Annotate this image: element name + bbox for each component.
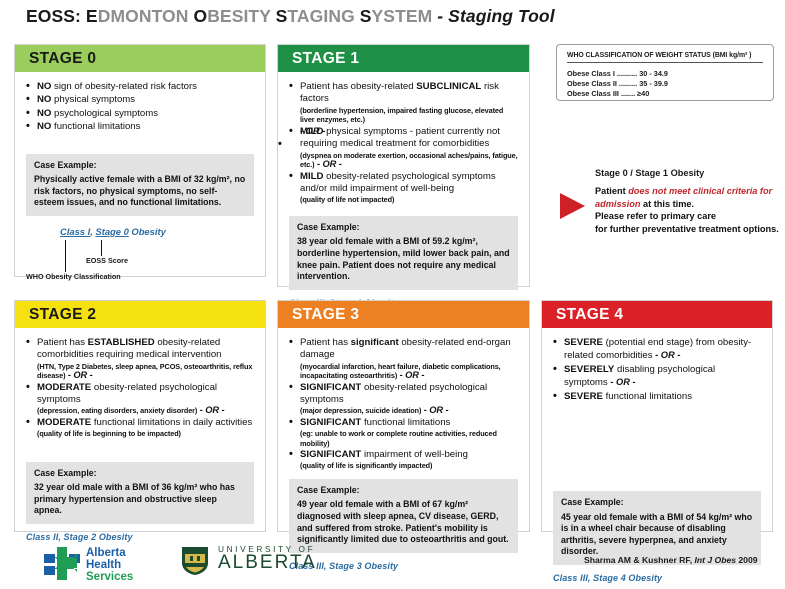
recommendation-line1-post: at this time.: [640, 199, 694, 209]
stage-2-case-text: 32 year old male with a BMI of 36 kg/m² …: [34, 482, 246, 517]
stage-0-stage-part: Stage 0: [95, 226, 128, 237]
stage-4-case-label: Case Example:: [561, 497, 753, 509]
stage-1-criterion-detail: (dyspnea on moderate exertion, occasiona…: [300, 151, 518, 170]
stage-1-case-example: Case Example: 38 year old female with a …: [289, 216, 518, 290]
stage-2-body: Patient has ESTABLISHED obesity-related …: [15, 328, 265, 548]
stage-3-criterion: SIGNIFICANT obesity-related psychologica…: [289, 382, 518, 416]
stage-0-class-part: Class I: [60, 226, 90, 237]
recommendation-line1-pre: Patient: [595, 186, 628, 196]
stage-3-criterion-detail: (myocardial infarction, heart failure, d…: [300, 362, 518, 381]
stage-0-criterion: NO psychological symptoms: [26, 108, 254, 120]
stage-2-criterion: Patient has ESTABLISHED obesity-related …: [26, 337, 254, 381]
stage-1-case-text: 38 year old female with a BMI of 59.2 kg…: [297, 236, 510, 282]
stage-4-criteria-list: SEVERE (potential end stage) from obesit…: [553, 337, 761, 403]
citation-pre: Sharma AM & Kushner RF,: [584, 555, 694, 565]
stage-1-criterion: MILD physical symptoms - patient current…: [289, 126, 518, 170]
stage-3-header: STAGE 3: [278, 301, 529, 328]
stage-3-criterion-detail: (major depression, suicide ideation) - O…: [300, 406, 518, 415]
ahs-line-1: Alberta Health: [86, 547, 133, 571]
stage-1-body: Patient has obesity-related SUBCLINICAL …: [278, 72, 529, 314]
stage-0-criteria-list: NO sign of obesity-related risk factors …: [26, 81, 254, 134]
ahs-cross-icon: [44, 547, 80, 580]
stage-0-annotation: Class I, Stage 0 Obesity WHO Obesity Cla…: [26, 226, 254, 282]
stage-2-card: STAGE 2 Patient has ESTABLISHED obesity-…: [14, 300, 266, 532]
stage-2-criterion-detail: (HTN, Type 2 Diabetes, sleep apnea, PCOS…: [37, 362, 254, 381]
stage-2-criteria-list: Patient has ESTABLISHED obesity-related …: [26, 337, 254, 439]
stage-0-case-label: Case Example:: [34, 160, 246, 172]
eoss-staging-tool-page: EOSS: EDMONTON OBESITY STAGING SYSTEM - …: [0, 0, 785, 588]
stage-1-case-label: Case Example:: [297, 222, 510, 234]
recommendation-line2: Please refer to primary care: [595, 211, 716, 221]
eoss-score-label: EOSS Score: [86, 256, 128, 265]
stage-2-criterion: MODERATE obesity-related psychological s…: [26, 382, 254, 416]
who-row: Obese Class II ......... 35 - 39.9: [567, 79, 763, 89]
stage-0-criterion: NO physical symptoms: [26, 94, 254, 106]
stage-0-class-line: Class I, Stage 0 Obesity: [60, 226, 166, 237]
stage-3-case-text: 49 year old female with a BMI of 67 kg/m…: [297, 499, 510, 545]
stage-0-class-suffix: Obesity: [129, 226, 166, 237]
page-title-suffix: - Staging Tool: [437, 6, 554, 26]
stage-1-header: STAGE 1: [278, 45, 529, 72]
stage-1-card: STAGE 1 Patient has obesity-related SUBC…: [277, 44, 530, 287]
university-of-alberta-logo: UNIVERSITY OF ALBERTA: [178, 543, 212, 582]
stage-0-card: STAGE 0 NO sign of obesity-related risk …: [14, 44, 266, 277]
stage-3-criteria-list: Patient has significant obesity-related …: [289, 337, 518, 471]
who-row: Obese Class I .......... 30 - 34.9: [567, 69, 763, 79]
stage-3-criterion: Patient has significant obesity-related …: [289, 337, 518, 381]
stage-4-header: STAGE 4: [542, 301, 772, 328]
stage-0-criterion: NO functional limitations: [26, 121, 254, 133]
stage-1-criterion: MILD obesity-related psychological sympt…: [289, 171, 518, 205]
stage-2-header: STAGE 2: [15, 301, 265, 328]
stage-4-criterion: SEVERE functional limitations: [553, 391, 761, 403]
ua-line-2: ALBERTA: [218, 552, 317, 574]
who-box-rows: Obese Class I .......... 30 - 34.9 Obese…: [567, 69, 763, 100]
stage-0-body: NO sign of obesity-related risk factors …: [15, 72, 265, 288]
who-box-heading: WHO CLASSIFICATION OF WEIGHT STATUS (BMI…: [567, 52, 763, 63]
page-title: EOSS: EDMONTON OBESITY STAGING SYSTEM - …: [26, 6, 555, 27]
stage-3-criterion: SIGNIFICANT functional limitations (eg: …: [289, 417, 518, 448]
annotation-leader-line-who: [65, 240, 66, 272]
ahs-wordmark: Alberta Health Services: [86, 547, 133, 583]
stage-3-card: STAGE 3 Patient has significant obesity-…: [277, 300, 530, 532]
ua-wordmark: UNIVERSITY OF ALBERTA: [218, 544, 317, 574]
stage-0-case-example: Case Example: Physically active female w…: [26, 154, 254, 216]
stage-0-header: STAGE 0: [15, 45, 265, 72]
recommendation-line3: for further preventative treatment optio…: [595, 224, 779, 234]
who-classification-box: WHO CLASSIFICATION OF WEIGHT STATUS (BMI…: [556, 44, 774, 101]
who-row: Obese Class III ....... ≥40: [567, 89, 763, 99]
ahs-line-2: Services: [86, 571, 133, 583]
stage-2-case-label: Case Example:: [34, 468, 246, 480]
stage-4-criterion: SEVERE (potential end stage) from obesit…: [553, 337, 761, 363]
stage-3-criterion-detail: (eg: unable to work or complete routine …: [300, 429, 518, 448]
who-classification-label: WHO Obesity Classification: [26, 272, 121, 281]
stage-1-criterion-detail: (quality of life not impacted): [300, 195, 518, 204]
stage-4-criterion: SEVERELY disabling psychological symptom…: [553, 364, 761, 390]
footer: Alberta Health Services UNIVERSITY OF AL…: [0, 540, 785, 588]
stage-3-criterion-detail: (quality of life is significantly impact…: [300, 461, 518, 470]
red-arrow-icon: [560, 193, 585, 219]
citation: Sharma AM & Kushner RF, Int J Obes 2009: [584, 555, 758, 565]
stage-4-card: STAGE 4 SEVERE (potential end stage) fro…: [541, 300, 773, 532]
recommendation-heading: Stage 0 / Stage 1 Obesity: [595, 168, 785, 178]
stage-1-criteria-list: Patient has obesity-related SUBCLINICAL …: [289, 81, 518, 205]
ua-shield-icon: [178, 543, 212, 577]
stage-2-criterion-detail: (quality of life is beginning to be impa…: [37, 429, 254, 438]
citation-journal: Int J Obes: [694, 555, 736, 565]
recommendation-panel: Stage 0 / Stage 1 Obesity Patient does n…: [595, 168, 785, 235]
stage-2-case-example: Case Example: 32 year old male with a BM…: [26, 462, 254, 524]
stage-0-case-text: Physically active female with a BMI of 3…: [34, 174, 246, 209]
stage-2-criterion-detail: (depression, eating disorders, anxiety d…: [37, 406, 254, 415]
stage-3-criterion: SIGNIFICANT impairment of well-being (qu…: [289, 449, 518, 471]
annotation-leader-line-eoss: [101, 240, 102, 256]
stage-3-case-label: Case Example:: [297, 485, 510, 497]
citation-year: 2009: [736, 555, 758, 565]
stage-2-criterion: MODERATE functional limitations in daily…: [26, 417, 254, 439]
recommendation-body: Patient does not meet clinical criteria …: [595, 185, 785, 235]
stage-0-criterion: NO sign of obesity-related risk factors: [26, 81, 254, 93]
stage-1-criterion-detail: (borderline hypertension, impaired fasti…: [300, 106, 518, 125]
